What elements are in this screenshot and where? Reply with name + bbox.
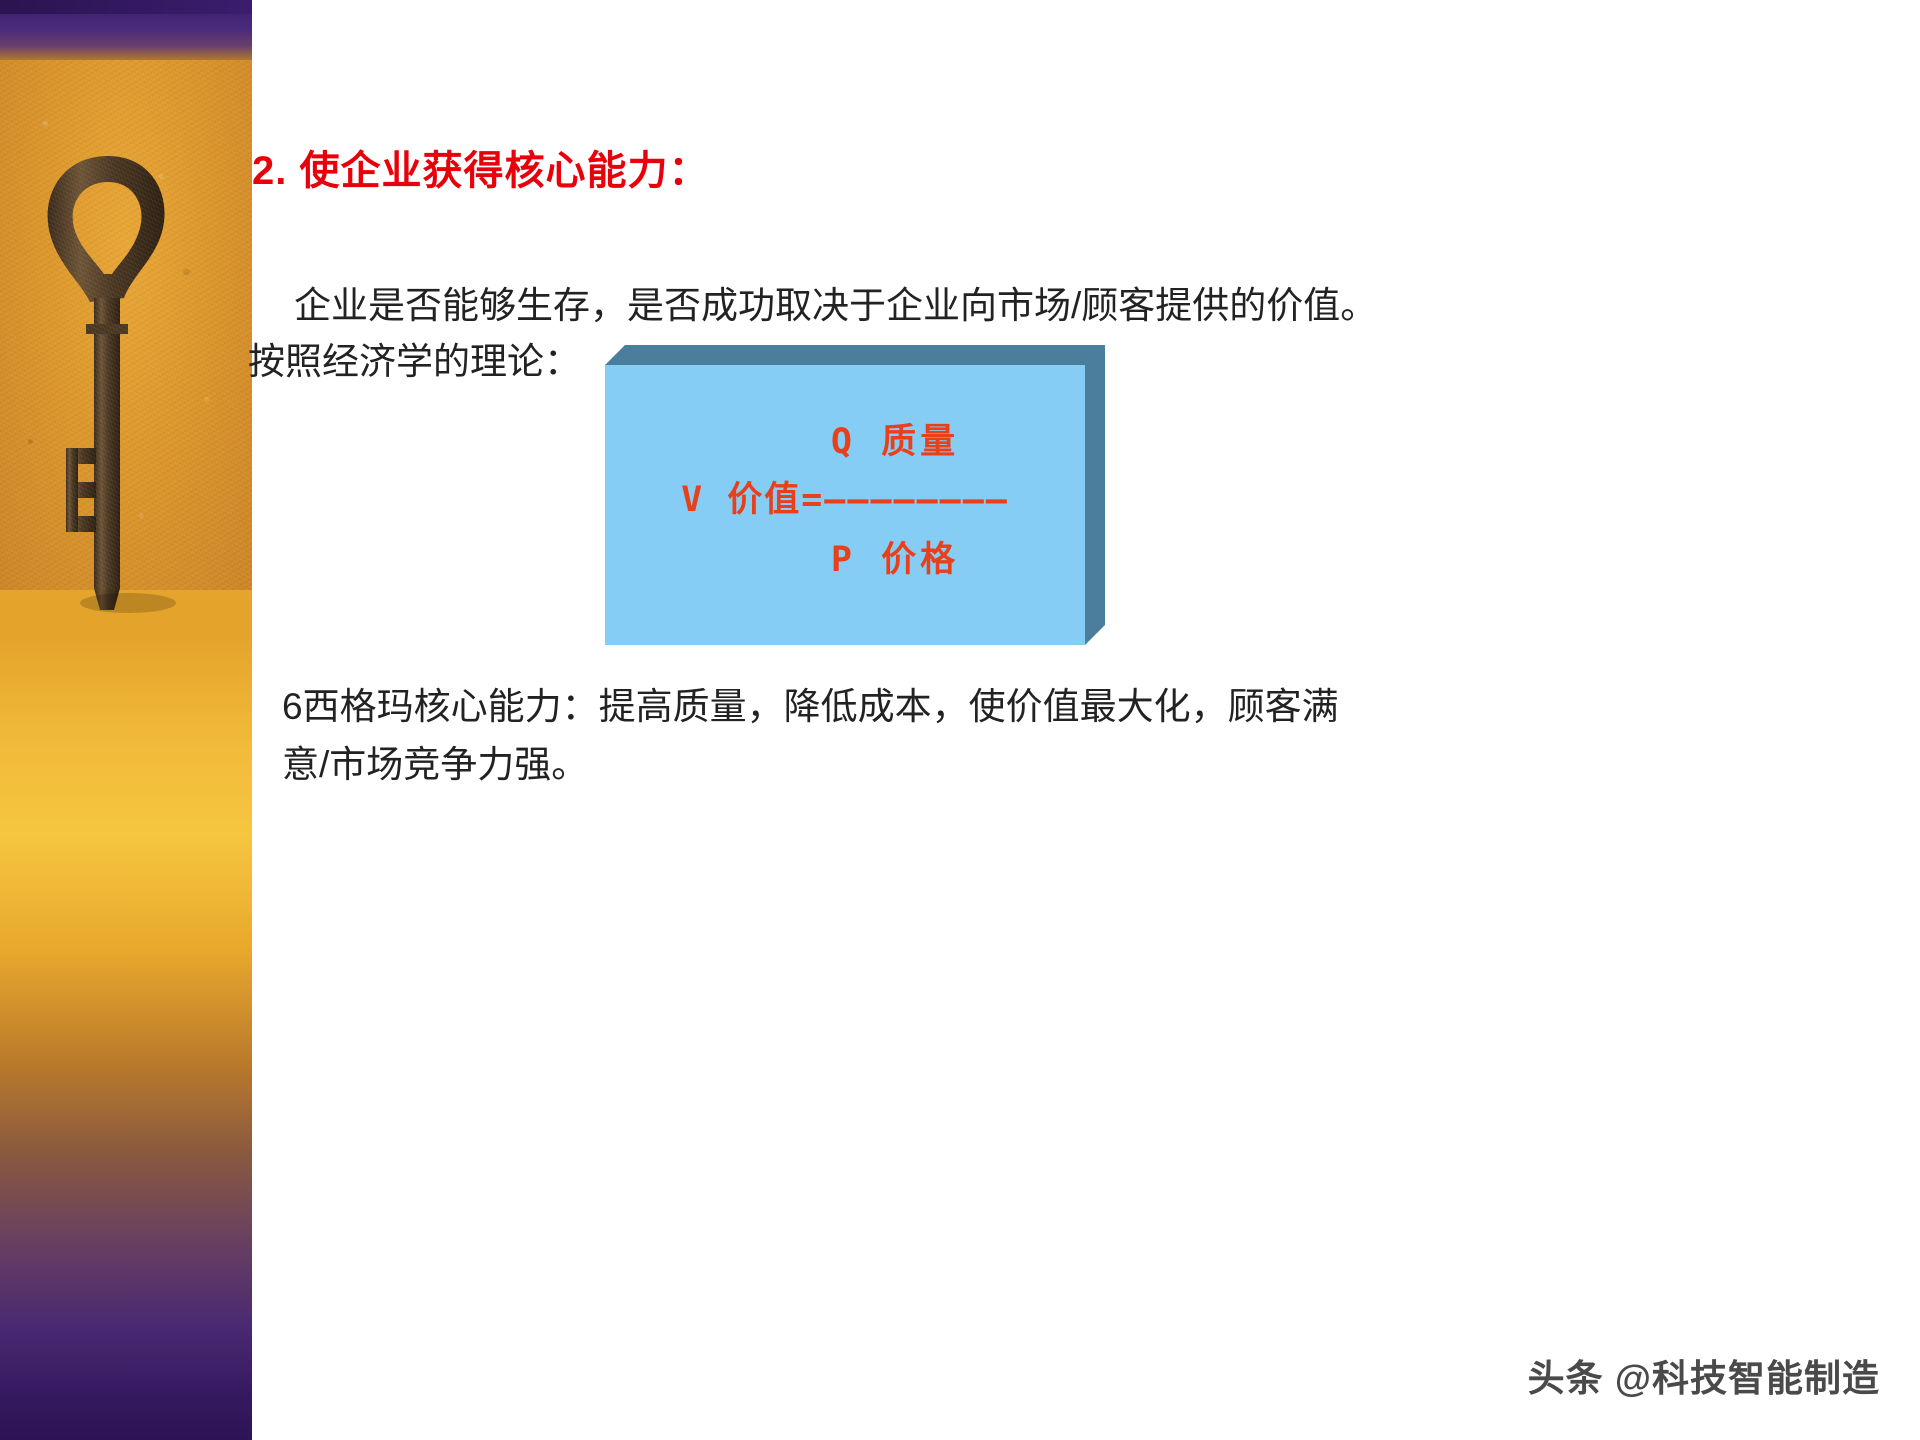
conclusion-line-1: 6西格玛核心能力：提高质量，降低成本，使价值最大化，顾客满 bbox=[282, 686, 1339, 727]
slide-title: 2. 使企业获得核心能力： bbox=[252, 138, 709, 196]
watermark-handle: @科技智能制造 bbox=[1615, 1358, 1880, 1399]
intro-line-1: 企业是否能够生存，是否成功取决于企业向市场/顾客提供的价值。 bbox=[294, 285, 1377, 326]
formula-numerator: Q 质量 bbox=[605, 413, 1085, 464]
conclusion-paragraph: 6西格玛核心能力：提高质量，降低成本，使价值最大化，顾客满 意/市场竞争力强。 bbox=[282, 678, 1702, 794]
formula-expression: V 价值=———————— bbox=[605, 471, 1085, 522]
formula-text-group: Q 质量 V 价值=———————— P 价格 bbox=[605, 365, 1085, 645]
conclusion-line-2: 意/市场竞争力强。 bbox=[282, 744, 588, 785]
old-key-icon bbox=[28, 148, 188, 618]
box-right-bevel bbox=[1085, 345, 1105, 645]
sand-background-photo bbox=[0, 60, 252, 590]
watermark: 头条 @科技智能制造 bbox=[1528, 1348, 1880, 1402]
intro-line-2: 按照经济学的理论： bbox=[248, 341, 581, 382]
sidebar-divider bbox=[252, 0, 260, 1440]
sidebar-top-strip bbox=[0, 0, 252, 14]
slide-content: 2. 使企业获得核心能力： 企业是否能够生存，是否成功取决于企业向市场/顾客提供… bbox=[260, 0, 1920, 1440]
formula-denominator: P 价格 bbox=[605, 531, 1085, 582]
box-top-bevel bbox=[605, 345, 1105, 365]
decorative-sidebar bbox=[0, 0, 260, 1440]
watermark-brand: 头条 bbox=[1528, 1358, 1604, 1399]
value-formula-box: Q 质量 V 价值=———————— P 价格 bbox=[605, 345, 1105, 645]
